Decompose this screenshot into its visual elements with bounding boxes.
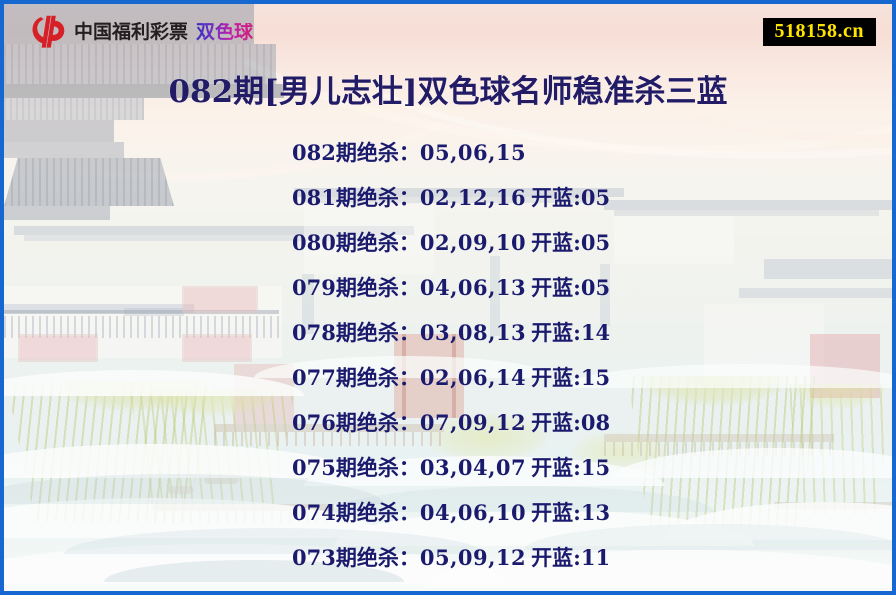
list-item: 082期绝杀：05,06,15 [4,130,892,175]
killed-numbers: 03,04,07 [420,455,526,480]
site-header: 中国福利彩票 双色球 518158.cn [4,4,892,60]
drawn-blue-ball: 开蓝:13 [531,500,610,525]
issue-kill-label: 073期绝杀： [292,545,420,570]
list-item: 077期绝杀：02,06,14开蓝:15 [4,355,892,400]
issue-kill-label: 079期绝杀： [292,275,420,300]
killed-numbers: 04,06,10 [420,500,526,525]
list-item: 075期绝杀：03,04,07开蓝:15 [4,445,892,490]
drawn-blue-ball: 开蓝:15 [531,455,610,480]
drawn-blue-ball: 开蓝:11 [531,545,610,570]
brand-product-name: 双色球 [196,23,253,42]
issue-kill-label: 078期绝杀： [292,320,420,345]
drawn-blue-ball: 开蓝:05 [531,275,610,300]
list-item: 080期绝杀：02,09,10开蓝:05 [4,220,892,265]
killed-numbers: 02,12,16 [420,185,526,210]
killed-numbers: 02,09,10 [420,230,526,255]
brand-name-cn: 中国福利彩票 [74,23,188,42]
drawn-blue-ball: 开蓝:14 [531,320,610,345]
drawn-blue-ball: 开蓝:15 [531,365,610,390]
drawn-blue-ball: 开蓝:05 [531,185,610,210]
page-title: 082期[男儿志壮]双色球名师稳准杀三蓝 [4,66,892,111]
issue-kill-label: 074期绝杀： [292,500,420,525]
list-item: 078期绝杀：03,08,13开蓝:14 [4,310,892,355]
list-item: 079期绝杀：04,06,13开蓝:05 [4,265,892,310]
site-watermark: 518158.cn [763,18,877,46]
issue-kill-label: 082期绝杀： [292,140,420,165]
issue-kill-label: 081期绝杀： [292,185,420,210]
killed-numbers: 02,06,14 [420,365,526,390]
china-welfare-lottery-emblem-icon [30,15,66,49]
issue-kill-label: 077期绝杀： [292,365,420,390]
killed-numbers: 05,09,12 [420,545,526,570]
drawn-blue-ball: 开蓝:08 [531,410,610,435]
list-item: 074期绝杀：04,06,10开蓝:13 [4,490,892,535]
issue-kill-label: 075期绝杀： [292,455,420,480]
drawn-blue-ball: 开蓝:05 [531,230,610,255]
lottery-forecast-page: 中国福利彩票 双色球 518158.cn 082期[男儿志壮]双色球名师稳准杀三… [0,0,896,595]
killed-numbers: 03,08,13 [420,320,526,345]
killed-numbers: 04,06,13 [420,275,526,300]
list-item: 076期绝杀：07,09,12开蓝:08 [4,400,892,445]
list-item: 073期绝杀：05,09,12开蓝:11 [4,535,892,580]
forecast-list: 082期绝杀：05,06,15 081期绝杀：02,12,16开蓝:05 080… [4,130,892,580]
brand-logo: 中国福利彩票 双色球 [30,15,253,49]
issue-kill-label: 076期绝杀： [292,410,420,435]
list-item: 081期绝杀：02,12,16开蓝:05 [4,175,892,220]
killed-numbers: 05,06,15 [420,140,526,165]
killed-numbers: 07,09,12 [420,410,526,435]
issue-kill-label: 080期绝杀： [292,230,420,255]
